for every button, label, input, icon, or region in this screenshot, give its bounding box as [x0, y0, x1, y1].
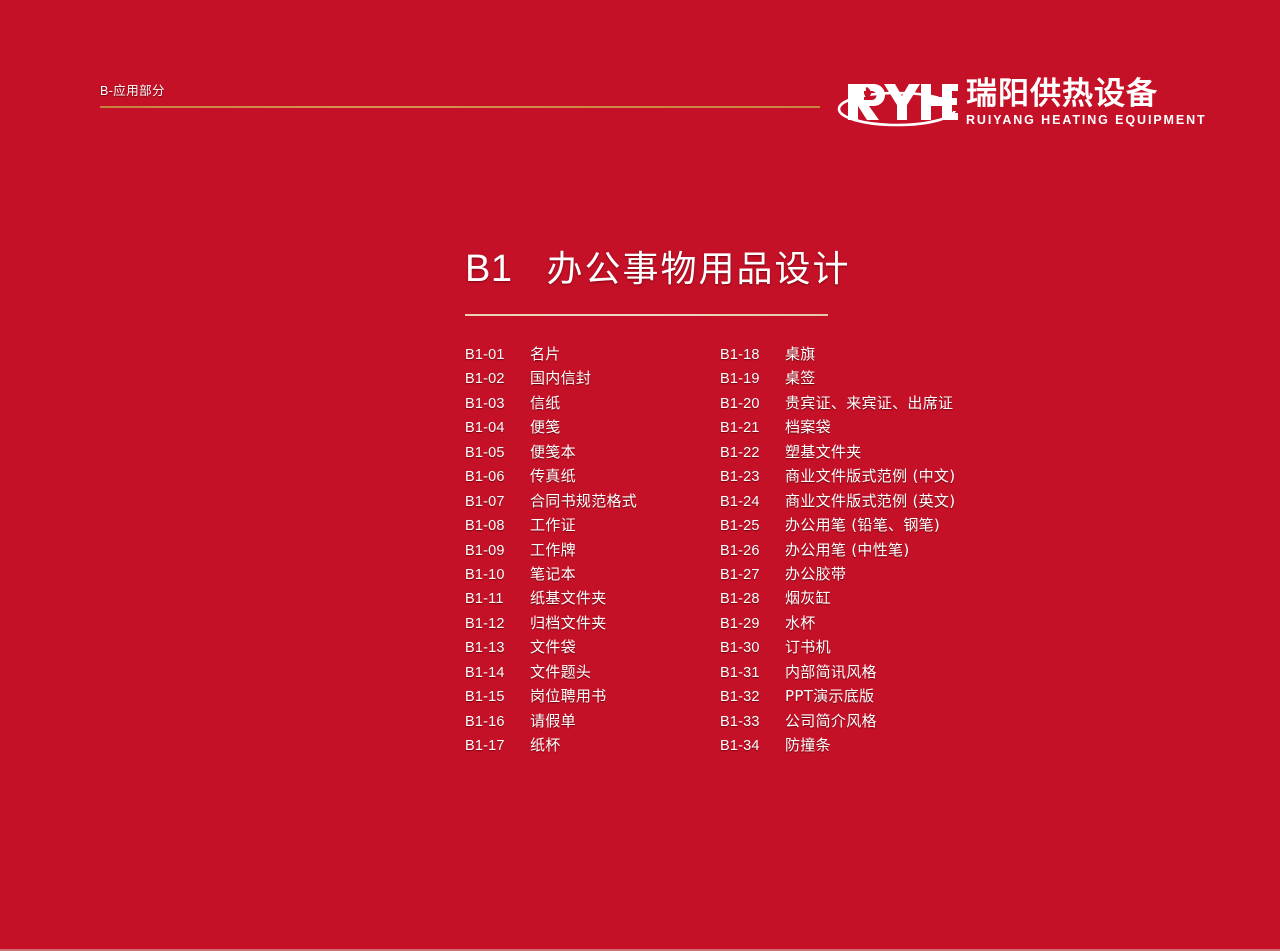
list-item-label: 桌旗 [785, 343, 816, 364]
list-item-label: 水杯 [785, 612, 816, 633]
list-item-code: B1-23 [720, 469, 785, 485]
list-item-label: 内部简讯风格 [785, 661, 877, 682]
brand-manual-page: B-应用部分 [0, 0, 1280, 951]
list-item-code: B1-02 [465, 371, 530, 387]
list-item[interactable]: B1-29水杯 [720, 612, 1050, 636]
list-item-label: 便笺本 [530, 441, 576, 462]
header-divider [100, 106, 820, 108]
list-item-code: B1-22 [720, 445, 785, 461]
list-item-code: B1-18 [720, 347, 785, 363]
list-item-code: B1-11 [465, 591, 530, 607]
list-item-code: B1-31 [720, 665, 785, 681]
list-item-label: 桌签 [785, 367, 816, 388]
list-item-code: B1-29 [720, 616, 785, 632]
list-item-label: 塑基文件夹 [785, 441, 862, 462]
list-item[interactable]: B1-20贵宾证、来宾证、出席证 [720, 392, 1050, 416]
list-item-code: B1-30 [720, 640, 785, 656]
list-item[interactable]: B1-10笔记本 [465, 563, 720, 587]
list-item-label: 岗位聘用书 [530, 685, 607, 706]
list-item-label: 文件袋 [530, 636, 576, 657]
list-item-code: B1-01 [465, 347, 530, 363]
list-item-code: B1-13 [465, 640, 530, 656]
logo-company-name-en: RUIYANG HEATING EQUIPMENT [966, 113, 1207, 127]
list-item[interactable]: B1-21档案袋 [720, 416, 1050, 440]
list-item-code: B1-34 [720, 738, 785, 754]
list-item-label: PPT演示底版 [785, 685, 874, 706]
list-item-label: 请假单 [530, 710, 576, 731]
list-item[interactable]: B1-34防撞条 [720, 734, 1050, 758]
logo-wordmark: 瑞阳供热设备 RUIYANG HEATING EQUIPMENT [966, 78, 1207, 127]
list-item-code: B1-27 [720, 567, 785, 583]
list-item-label: 归档文件夹 [530, 612, 607, 633]
list-item-label: 办公胶带 [785, 563, 846, 584]
list-item-code: B1-24 [720, 494, 785, 510]
list-item-label: 工作牌 [530, 539, 576, 560]
list-item-code: B1-03 [465, 396, 530, 412]
list-item-label: 笔记本 [530, 563, 576, 584]
list-item-label: 办公用笔 (中性笔) [785, 539, 909, 560]
list-item[interactable]: B1-12归档文件夹 [465, 612, 720, 636]
list-item-label: 防撞条 [785, 734, 831, 755]
list-item-label: 国内信封 [530, 367, 591, 388]
list-item-code: B1-14 [465, 665, 530, 681]
list-item-label: 传真纸 [530, 465, 576, 486]
list-item-label: 档案袋 [785, 416, 831, 437]
list-item-label: 工作证 [530, 514, 576, 535]
list-item-label: 订书机 [785, 636, 831, 657]
section-tag: B-应用部分 [100, 80, 165, 99]
list-item[interactable]: B1-13文件袋 [465, 636, 720, 660]
list-item[interactable]: B1-06传真纸 [465, 465, 720, 489]
list-item-label: 纸杯 [530, 734, 561, 755]
list-item-code: B1-12 [465, 616, 530, 632]
list-item-code: B1-16 [465, 714, 530, 730]
list-item-label: 商业文件版式范例 (英文) [785, 490, 955, 511]
list-item[interactable]: B1-24商业文件版式范例 (英文) [720, 490, 1050, 514]
list-item[interactable]: B1-02国内信封 [465, 367, 720, 391]
section-title-block: B1 办公事物用品设计 [465, 240, 885, 316]
list-item-label: 信纸 [530, 392, 561, 413]
list-item[interactable]: B1-27办公胶带 [720, 563, 1050, 587]
list-item-label: 名片 [530, 343, 561, 364]
list-item[interactable]: B1-22塑基文件夹 [720, 441, 1050, 465]
list-item[interactable]: B1-09工作牌 [465, 539, 720, 563]
list-item-code: B1-10 [465, 567, 530, 583]
list-item-label: 贵宾证、来宾证、出席证 [785, 392, 953, 413]
list-item[interactable]: B1-18桌旗 [720, 343, 1050, 367]
list-item[interactable]: B1-16请假单 [465, 710, 720, 734]
list-item[interactable]: B1-01名片 [465, 343, 720, 367]
list-item[interactable]: B1-26办公用笔 (中性笔) [720, 539, 1050, 563]
list-item-code: B1-04 [465, 420, 530, 436]
list-item[interactable]: B1-04便笺 [465, 416, 720, 440]
list-item-label: 商业文件版式范例 (中文) [785, 465, 955, 486]
page-title-code: B1 [465, 248, 512, 291]
list-item[interactable]: B1-17纸杯 [465, 734, 720, 758]
list-item[interactable]: B1-08工作证 [465, 514, 720, 538]
list-item[interactable]: B1-11纸基文件夹 [465, 587, 720, 611]
list-item-label: 合同书规范格式 [530, 490, 637, 511]
contents-column-left: B1-01名片B1-02国内信封B1-03信纸B1-04便笺B1-05便笺本B1… [465, 343, 720, 758]
ryhe-logo-mark-icon [836, 78, 958, 130]
contents-column-right: B1-18桌旗B1-19桌签B1-20贵宾证、来宾证、出席证B1-21档案袋B1… [720, 343, 1050, 758]
page-header: B-应用部分 [0, 0, 1280, 150]
contents-index: B1-01名片B1-02国内信封B1-03信纸B1-04便笺B1-05便笺本B1… [465, 343, 1050, 758]
list-item-code: B1-06 [465, 469, 530, 485]
list-item-code: B1-33 [720, 714, 785, 730]
list-item[interactable]: B1-23商业文件版式范例 (中文) [720, 465, 1050, 489]
list-item[interactable]: B1-03信纸 [465, 392, 720, 416]
page-title: B1 办公事物用品设计 [465, 240, 885, 292]
list-item-code: B1-17 [465, 738, 530, 754]
list-item-code: B1-19 [720, 371, 785, 387]
title-divider [465, 314, 828, 316]
list-item-label: 办公用笔 (铅笔、钢笔) [785, 514, 940, 535]
list-item-label: 纸基文件夹 [530, 587, 607, 608]
list-item-code: B1-25 [720, 518, 785, 534]
list-item-label: 烟灰缸 [785, 587, 831, 608]
list-item[interactable]: B1-15岗位聘用书 [465, 685, 720, 709]
list-item-code: B1-07 [465, 494, 530, 510]
list-item-code: B1-15 [465, 689, 530, 705]
list-item-code: B1-20 [720, 396, 785, 412]
list-item[interactable]: B1-30订书机 [720, 636, 1050, 660]
list-item-code: B1-26 [720, 543, 785, 559]
list-item[interactable]: B1-19桌签 [720, 367, 1050, 391]
list-item-code: B1-05 [465, 445, 530, 461]
list-item[interactable]: B1-33公司简介风格 [720, 710, 1050, 734]
list-item[interactable]: B1-07合同书规范格式 [465, 490, 720, 514]
list-item[interactable]: B1-32PPT演示底版 [720, 685, 1050, 709]
list-item[interactable]: B1-05便笺本 [465, 441, 720, 465]
list-item[interactable]: B1-28烟灰缸 [720, 587, 1050, 611]
list-item-label: 便笺 [530, 416, 561, 437]
list-item[interactable]: B1-25办公用笔 (铅笔、钢笔) [720, 514, 1050, 538]
list-item[interactable]: B1-31内部简讯风格 [720, 661, 1050, 685]
list-item-code: B1-09 [465, 543, 530, 559]
list-item-label: 文件题头 [530, 661, 591, 682]
page-title-text: 办公事物用品设计 [546, 240, 850, 292]
list-item-code: B1-32 [720, 689, 785, 705]
list-item-code: B1-21 [720, 420, 785, 436]
logo-company-name-cn: 瑞阳供热设备 [966, 78, 1207, 110]
list-item-label: 公司简介风格 [785, 710, 877, 731]
list-item[interactable]: B1-14文件题头 [465, 661, 720, 685]
list-item-code: B1-08 [465, 518, 530, 534]
company-logo: 瑞阳供热设备 RUIYANG HEATING EQUIPMENT [836, 78, 1207, 130]
list-item-code: B1-28 [720, 591, 785, 607]
